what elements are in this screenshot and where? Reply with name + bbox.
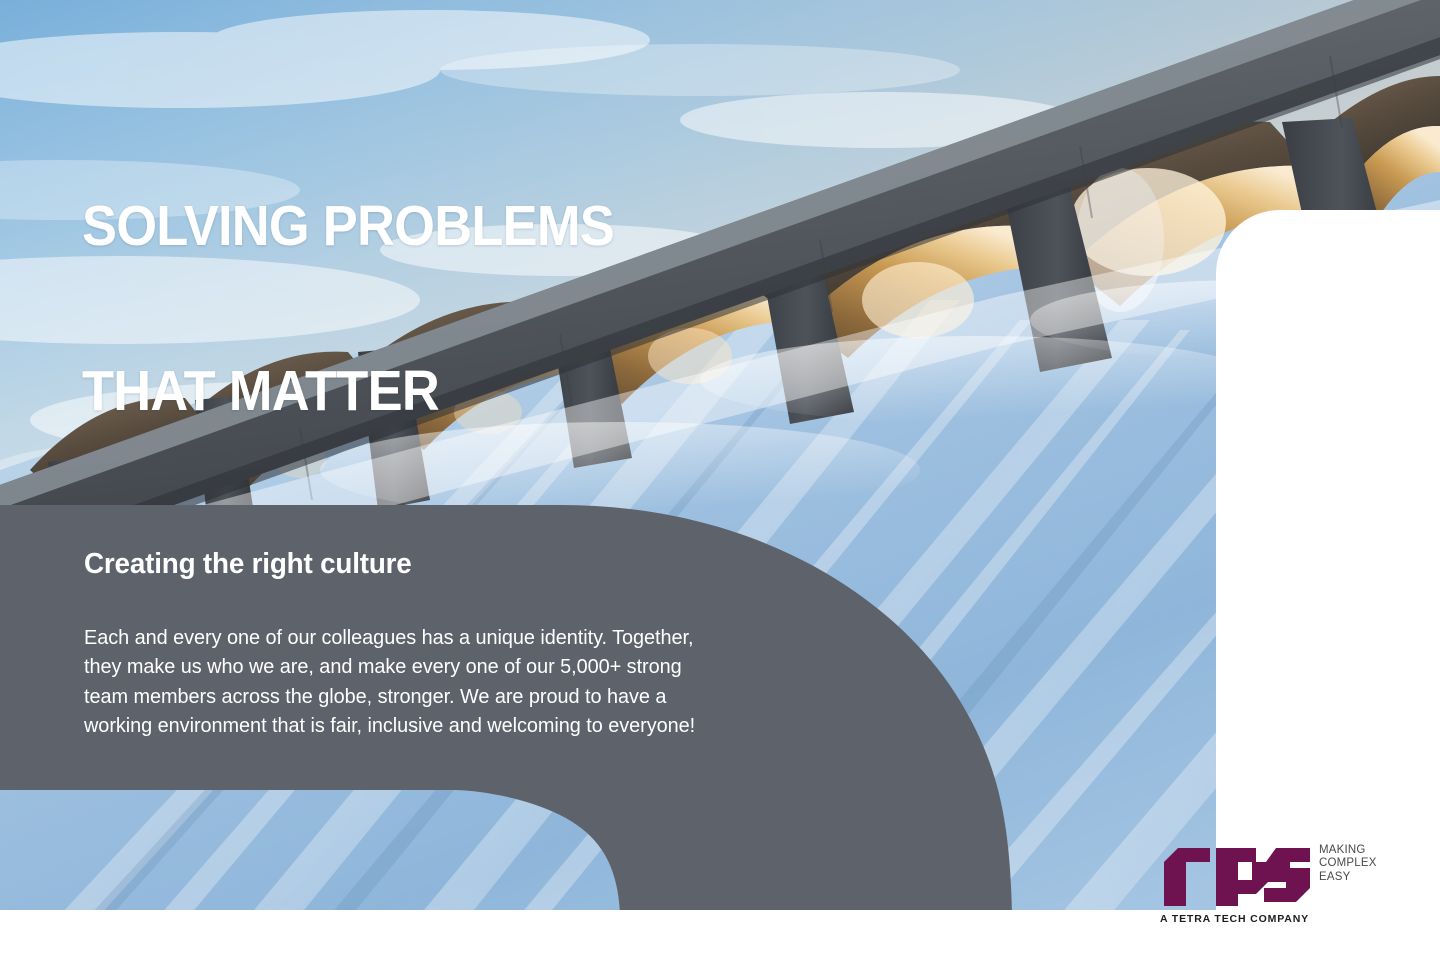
panel-body-text: Each and every one of our colleagues has…: [84, 623, 724, 739]
slide-root: SOLVING PROBLEMS THAT MATTER Creating th…: [0, 0, 1440, 960]
logo-subtitle: A TETRA TECH COMPANY: [1160, 913, 1377, 925]
logo-tagline-line-2: COMPLEX: [1319, 857, 1377, 870]
logo-row: MAKING COMPLEX EASY: [1160, 840, 1377, 910]
headline-line-2: THAT MATTER: [82, 364, 614, 419]
page-title: SOLVING PROBLEMS THAT MATTER: [82, 88, 614, 530]
logo-tagline-line-1: MAKING: [1319, 844, 1377, 857]
rps-logo: MAKING COMPLEX EASY A TETRA TECH COMPANY: [1160, 840, 1377, 925]
panel-heading: Creating the right culture: [84, 548, 698, 581]
rps-wordmark-icon: [1160, 840, 1310, 910]
headline-line-1: SOLVING PROBLEMS: [82, 199, 614, 254]
logo-tagline: MAKING COMPLEX EASY: [1319, 844, 1377, 884]
culture-panel-text: Creating the right culture Each and ever…: [84, 548, 724, 740]
logo-tagline-line-3: EASY: [1319, 871, 1377, 884]
